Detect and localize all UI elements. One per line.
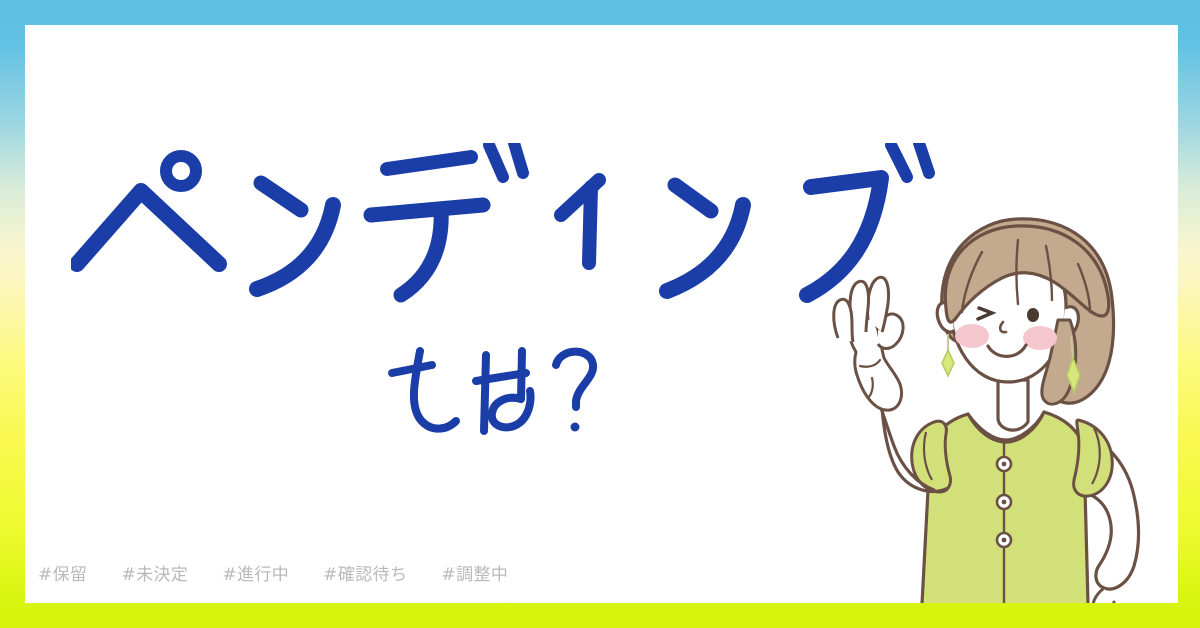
page-title [71, 143, 951, 328]
page-subtitle-glyphs [380, 343, 610, 448]
hashtag-adjusting[interactable]: #調整中 [441, 560, 508, 585]
blouse-sleeve-ruffle-right [1074, 420, 1113, 496]
hashtag-list: #保留 #未決定 #進行中 #確認待ち #調整中 [38, 560, 508, 585]
neck-shape [998, 380, 1028, 430]
page-subtitle [380, 343, 610, 448]
blush-left [955, 324, 989, 348]
eye-right-open [1027, 308, 1039, 322]
hashtag-undecided[interactable]: #未決定 [121, 560, 188, 585]
blouse-buttons [997, 457, 1011, 547]
woman-ok-sign-graphic [822, 200, 1178, 603]
blush-right [1023, 326, 1057, 350]
hashtag-awaiting-confirmation[interactable]: #確認待ち [323, 560, 407, 585]
hashtag-hold[interactable]: #保留 [38, 560, 87, 585]
page-title-glyphs [71, 143, 951, 328]
hashtag-in-progress[interactable]: #進行中 [222, 560, 289, 585]
banner-root: #保留 #未決定 #進行中 #確認待ち #調整中 [0, 0, 1200, 628]
hand-ok-sign [834, 277, 903, 410]
woman-ok-sign-illustration [822, 200, 1178, 603]
content-card: #保留 #未決定 #進行中 #確認待ち #調整中 [25, 25, 1178, 603]
